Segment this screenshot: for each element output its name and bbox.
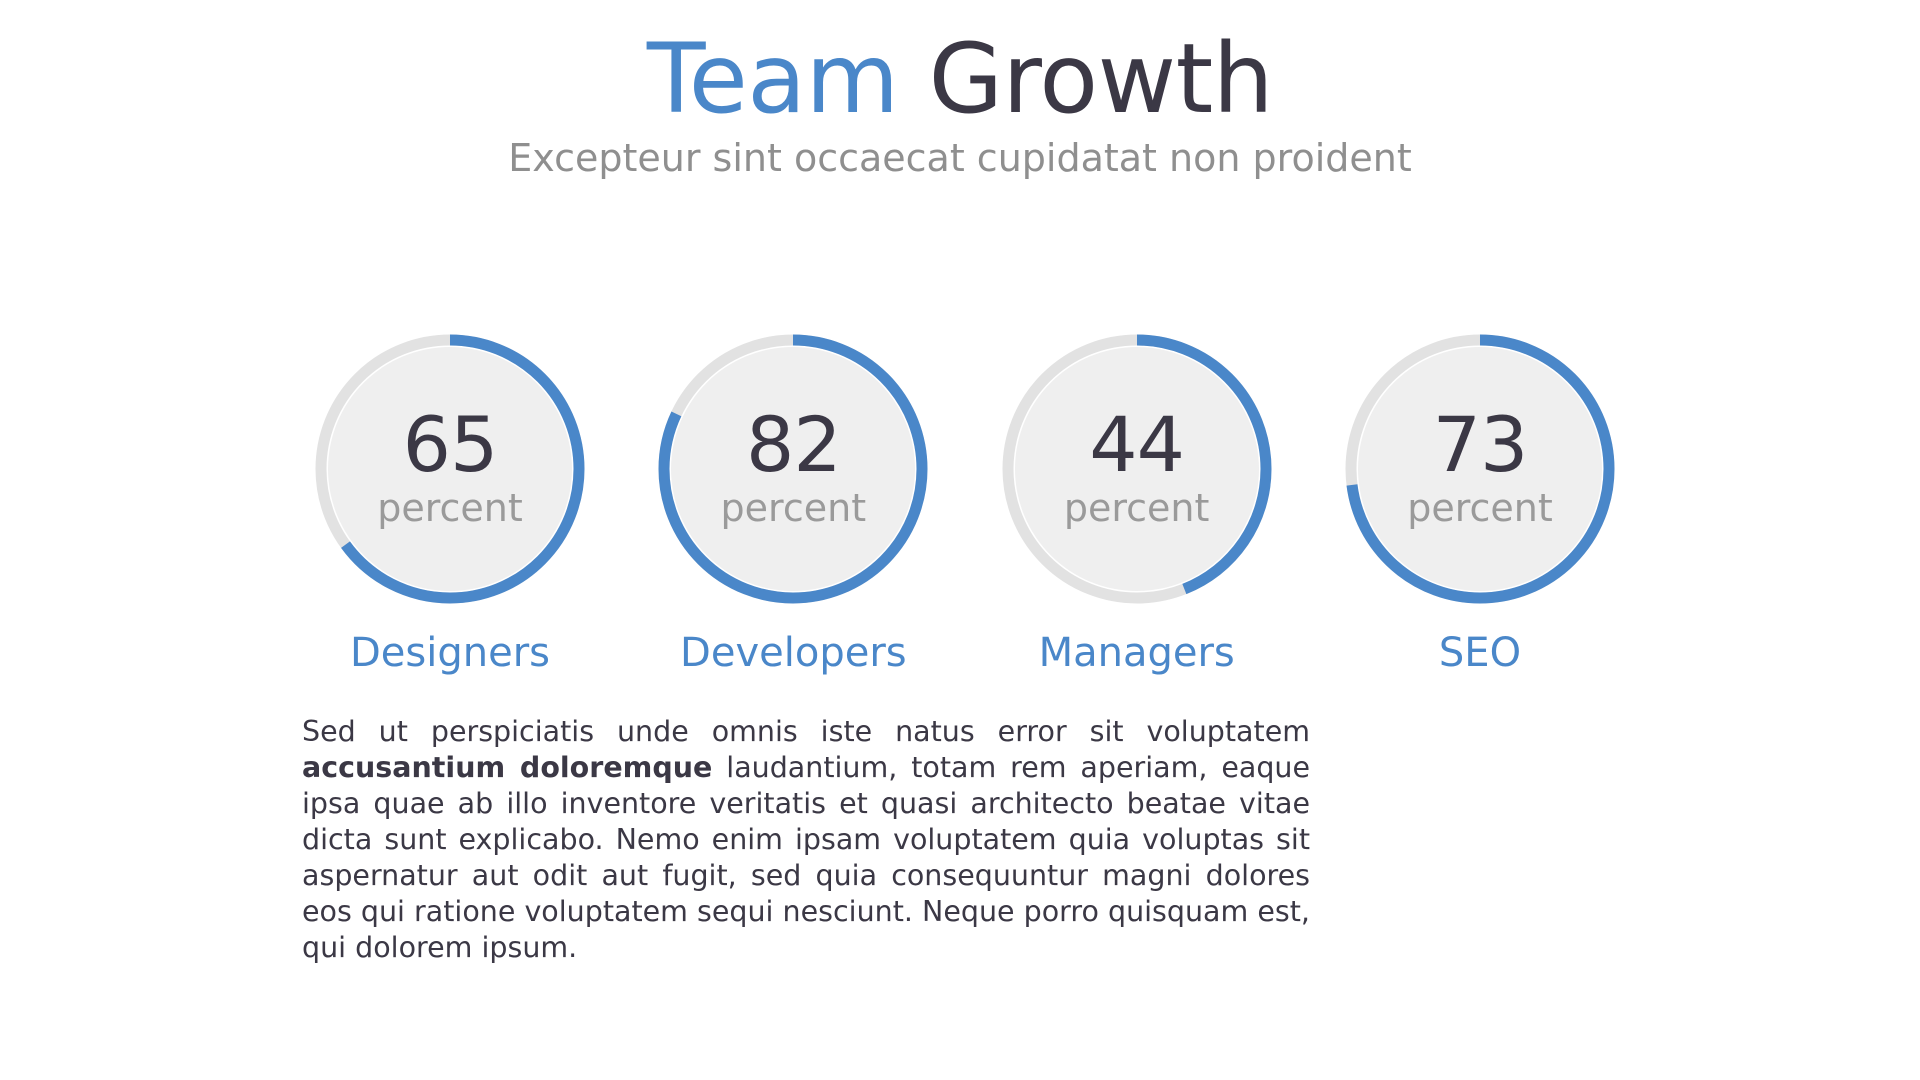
donut-card-designers[interactable]: 65 percent Designers xyxy=(300,330,600,676)
page-title: Team Growth xyxy=(0,28,1920,132)
donut-chart-seo: 73 percent xyxy=(1341,330,1619,608)
body-text-part1: Sed ut perspiciatis unde omnis iste natu… xyxy=(302,715,1310,748)
body-paragraph: Sed ut perspiciatis unde omnis iste natu… xyxy=(302,714,1310,966)
donut-value: 65 xyxy=(403,407,498,483)
donut-unit: percent xyxy=(377,489,523,527)
donut-label-seo: SEO xyxy=(1439,630,1521,676)
donut-unit: percent xyxy=(1064,489,1210,527)
donut-value: 44 xyxy=(1089,407,1184,483)
body-text-bold: accusantium doloremque xyxy=(302,751,712,784)
donut-unit: percent xyxy=(721,489,867,527)
donut-center-seo: 73 percent xyxy=(1341,330,1619,608)
donut-chart-developers: 82 percent xyxy=(654,330,932,608)
title-accent-word: Team xyxy=(647,23,899,135)
donut-center-designers: 65 percent xyxy=(311,330,589,608)
donut-center-developers: 82 percent xyxy=(654,330,932,608)
donut-chart-row: 65 percent Designers 82 percent Develope… xyxy=(300,330,1630,676)
donut-center-managers: 44 percent xyxy=(998,330,1276,608)
donut-value: 73 xyxy=(1433,407,1528,483)
slide-header: Team Growth Excepteur sint occaecat cupi… xyxy=(0,28,1920,181)
donut-label-developers: Developers xyxy=(680,630,907,676)
donut-unit: percent xyxy=(1407,489,1553,527)
donut-label-managers: Managers xyxy=(1039,630,1235,676)
title-main-word: Growth xyxy=(929,23,1273,135)
donut-label-designers: Designers xyxy=(350,630,550,676)
donut-card-seo[interactable]: 73 percent SEO xyxy=(1330,330,1630,676)
donut-chart-managers: 44 percent xyxy=(998,330,1276,608)
donut-chart-designers: 65 percent xyxy=(311,330,589,608)
donut-card-managers[interactable]: 44 percent Managers xyxy=(987,330,1287,676)
donut-card-developers[interactable]: 82 percent Developers xyxy=(643,330,943,676)
donut-value: 82 xyxy=(746,407,841,483)
page-subtitle: Excepteur sint occaecat cupidatat non pr… xyxy=(0,136,1920,182)
slide-root: Team Growth Excepteur sint occaecat cupi… xyxy=(0,0,1920,1080)
